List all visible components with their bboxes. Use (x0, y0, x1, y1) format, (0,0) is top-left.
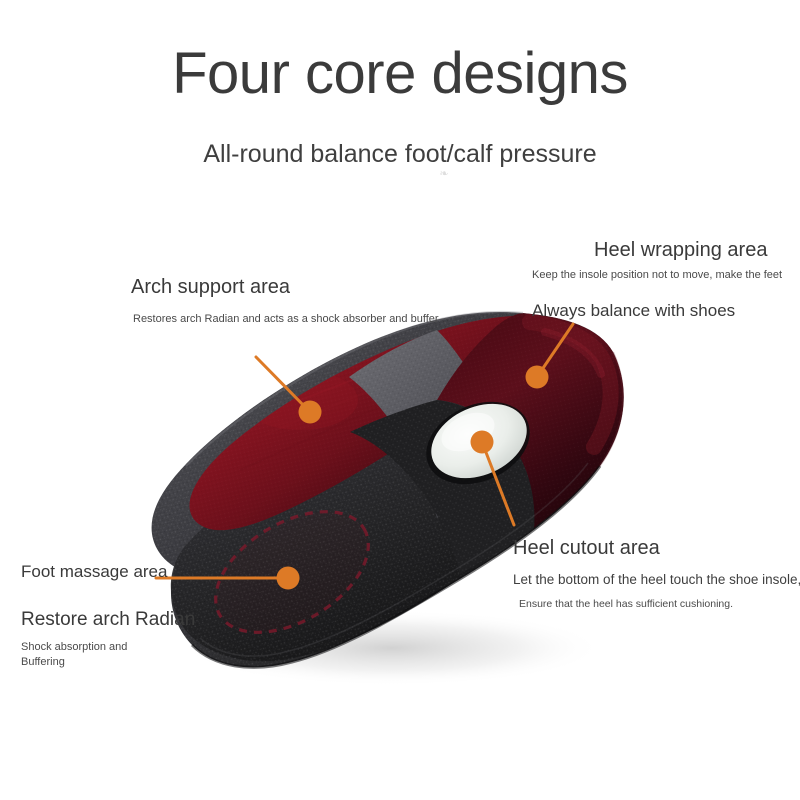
annotation-title-heel-cutout: Heel cutout area (513, 535, 800, 561)
annotation-desc-arch-support: Restores arch Radian and acts as a shock… (133, 312, 439, 327)
annotation-foot-massage: Foot massage area Restore arch Radian Sh… (21, 560, 195, 670)
annotation-arch-support: Arch support area Restores arch Radian a… (131, 274, 439, 327)
annotation-heel-wrapping: Heel wrapping area Keep the insole posit… (594, 237, 767, 263)
infographic-canvas: Four core designs All-round balance foot… (0, 0, 800, 800)
annotation-desc-heel-wrapping: Keep the insole position not to move, ma… (532, 268, 794, 283)
annotation-subtitle-heel-wrapping: Always balance with shoes (532, 299, 735, 323)
page-subtitle: All-round balance foot/calf pressure (0, 138, 800, 170)
annotation-desc-heel-cutout: Let the bottom of the heel touch the sho… (513, 569, 800, 591)
annotation-title-arch-support: Arch support area (131, 274, 439, 300)
annotation-title-foot-massage: Foot massage area (21, 560, 195, 584)
dot-heel-cutout (471, 431, 494, 454)
annotation-desc2-heel-cutout: Ensure that the heel has sufficient cush… (519, 597, 800, 612)
page-title: Four core designs (0, 42, 800, 106)
annotation-desc-foot-massage: Shock absorption and Buffering (21, 640, 171, 670)
annotation-subtitle-foot-massage: Restore arch Radian (21, 607, 195, 633)
annotation-title-heel-wrapping: Heel wrapping area (594, 237, 767, 263)
dot-foot-massage (277, 567, 300, 590)
watermark-glyph: ❧ (438, 168, 450, 180)
annotation-desc-foot-massage-line1: Shock absorption and (21, 640, 171, 655)
insole-illustration (0, 0, 800, 800)
annotation-desc-foot-massage-line2: Buffering (21, 655, 171, 670)
dot-arch-support (299, 401, 322, 424)
annotation-heel-cutout: Heel cutout area Let the bottom of the h… (513, 535, 800, 612)
dot-heel-wrapping (526, 366, 549, 389)
